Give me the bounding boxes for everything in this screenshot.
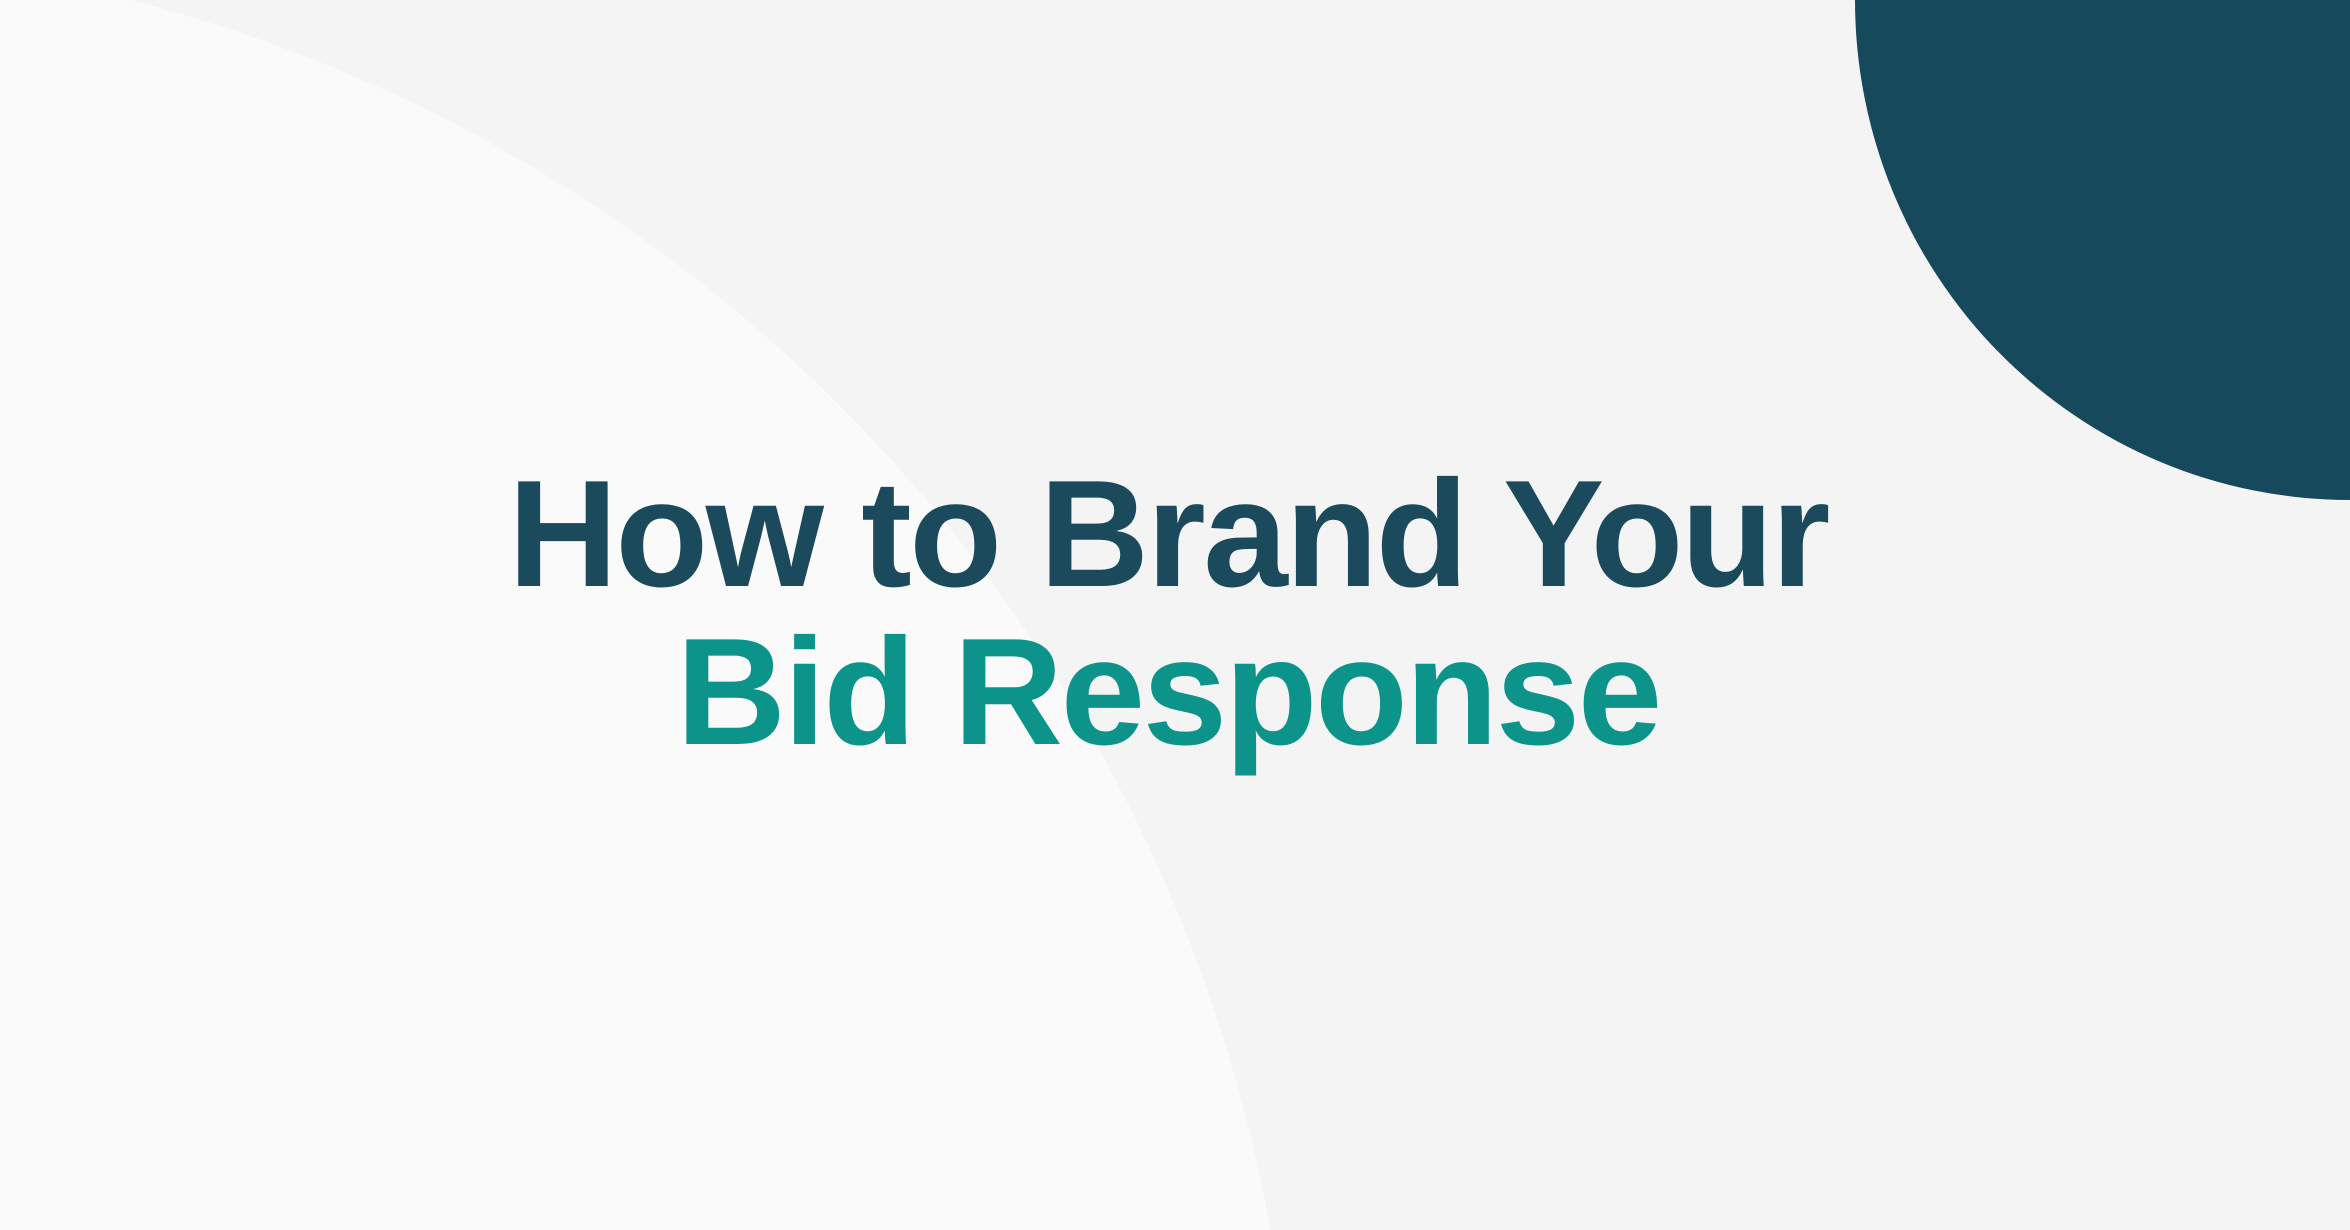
headline-block: How to Brand Your Bid Response [0, 455, 2350, 771]
banner-canvas: How to Brand Your Bid Response [0, 0, 2350, 1230]
headline-line-accent: Bid Response [0, 613, 2343, 771]
headline-line-primary: How to Brand Your [0, 455, 2343, 613]
